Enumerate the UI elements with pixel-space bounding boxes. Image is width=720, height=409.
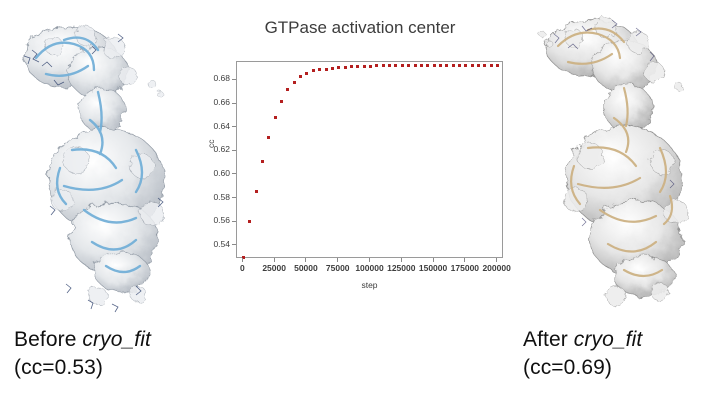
data-point	[414, 64, 417, 67]
x-tick-mark	[242, 258, 243, 262]
y-tick-label: 0.56	[213, 215, 230, 225]
molecule-image-after	[520, 0, 720, 320]
caption-after-italic: cryo_fit	[574, 328, 643, 351]
y-tick-label: 0.68	[213, 73, 230, 83]
caption-after-line1: After cryo_fit	[523, 326, 642, 354]
data-point	[477, 64, 480, 67]
y-tick-mark	[232, 79, 236, 80]
x-axis-label: step	[236, 280, 503, 290]
y-tick-label: 0.54	[213, 239, 230, 249]
data-point	[369, 65, 372, 68]
data-point	[458, 64, 461, 67]
data-point	[318, 68, 321, 71]
cryo-em-density-map-after-svg	[520, 0, 720, 320]
data-point	[337, 66, 340, 69]
data-point	[280, 100, 283, 103]
x-tick-mark	[274, 258, 275, 262]
y-tick-mark	[232, 244, 236, 245]
y-tick-label: 0.60	[213, 168, 230, 178]
plot-frame	[236, 61, 503, 258]
data-point	[255, 190, 258, 193]
caption-before-italic: cryo_fit	[82, 328, 151, 351]
caption-after-line2: (cc=0.69)	[523, 354, 642, 382]
caption-before-line2: (cc=0.53)	[14, 354, 151, 382]
data-point	[439, 64, 442, 67]
y-tick-mark	[232, 103, 236, 104]
caption-before-prefix: Before	[14, 328, 82, 351]
x-tick-label: 150000	[419, 263, 447, 273]
cc-vs-step-chart: GTPase activation center cc step 0.540.5…	[205, 8, 515, 298]
caption-before: Before cryo_fit (cc=0.53)	[14, 326, 151, 381]
chart-title: GTPase activation center	[205, 18, 515, 38]
data-point	[267, 136, 270, 139]
data-point	[325, 68, 328, 71]
y-tick-label: 0.58	[213, 192, 230, 202]
data-point	[452, 64, 455, 67]
data-point	[426, 64, 429, 67]
data-point	[363, 65, 366, 68]
data-point	[433, 64, 436, 67]
caption-after-prefix: After	[523, 328, 574, 351]
x-tick-mark	[433, 258, 434, 262]
molecule-image-before	[2, 0, 202, 320]
data-point	[496, 64, 499, 67]
x-tick-label: 100000	[355, 263, 383, 273]
data-point	[286, 88, 289, 91]
data-point	[401, 64, 404, 67]
data-point	[420, 64, 423, 67]
x-tick-label: 75000	[326, 263, 350, 273]
data-point	[483, 64, 486, 67]
y-tick-label: 0.66	[213, 97, 230, 107]
x-tick-mark	[305, 258, 306, 262]
y-tick-mark	[232, 150, 236, 151]
x-tick-label: 0	[240, 263, 245, 273]
caption-before-line1: Before cryo_fit	[14, 326, 151, 354]
y-tick-mark	[232, 221, 236, 222]
data-point	[388, 64, 391, 67]
y-tick-mark	[232, 126, 236, 127]
x-tick-label: 25000	[262, 263, 286, 273]
x-tick-mark	[369, 258, 370, 262]
data-point	[445, 64, 448, 67]
x-tick-label: 125000	[387, 263, 415, 273]
y-tick-mark	[232, 197, 236, 198]
x-tick-mark	[401, 258, 402, 262]
data-point	[261, 160, 264, 163]
data-point	[248, 220, 251, 223]
y-tick-label: 0.64	[213, 121, 230, 131]
plot-area	[237, 62, 502, 257]
x-tick-mark	[337, 258, 338, 262]
data-point	[375, 64, 378, 67]
cryo-em-density-map-before-svg	[2, 0, 202, 320]
data-point	[312, 69, 315, 72]
x-tick-label: 175000	[451, 263, 479, 273]
caption-after: After cryo_fit (cc=0.69)	[523, 326, 642, 381]
data-point	[350, 65, 353, 68]
y-tick-label: 0.62	[213, 144, 230, 154]
data-point	[274, 116, 277, 119]
x-tick-mark	[464, 258, 465, 262]
x-tick-label: 50000	[294, 263, 318, 273]
data-point	[464, 64, 467, 67]
data-point	[305, 72, 308, 75]
data-point	[407, 64, 410, 67]
data-point	[471, 64, 474, 67]
data-point	[293, 81, 296, 84]
data-point	[394, 64, 397, 67]
data-point	[382, 64, 385, 67]
data-point	[344, 66, 347, 69]
x-tick-label: 200000	[482, 263, 510, 273]
y-tick-mark	[232, 173, 236, 174]
data-point	[299, 75, 302, 78]
data-point	[356, 65, 359, 68]
data-point	[490, 64, 493, 67]
data-point	[331, 67, 334, 70]
x-tick-mark	[496, 258, 497, 262]
